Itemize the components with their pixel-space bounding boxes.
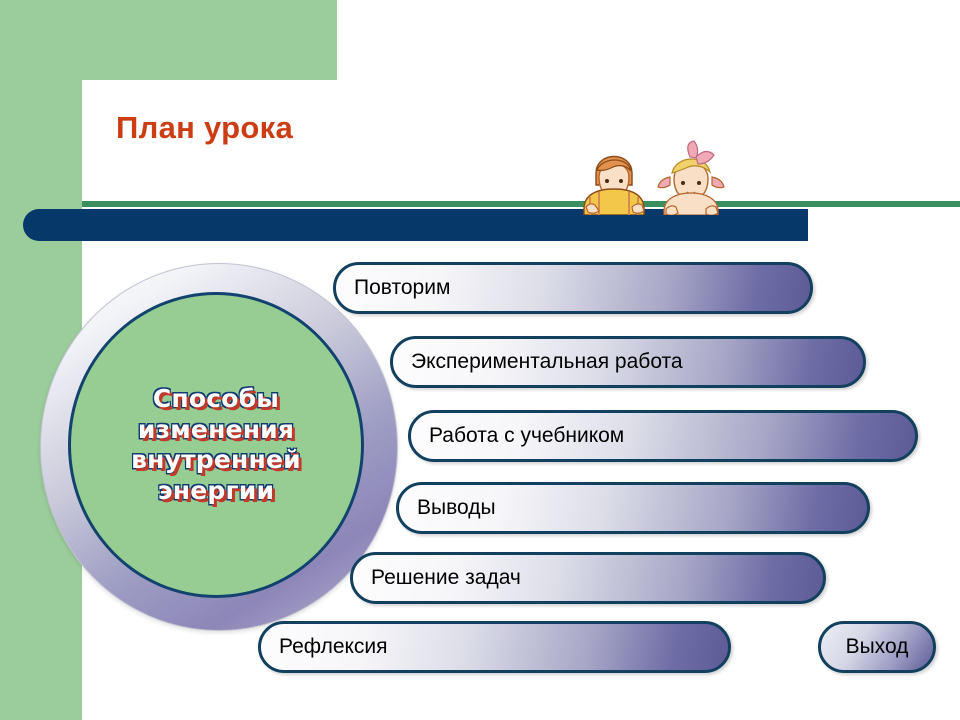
page-title: План урока	[116, 110, 293, 146]
agenda-item-label: Рефлексия	[279, 635, 388, 659]
central-concept-circle: Способы изменения внутренней энергии	[40, 263, 398, 631]
agenda-item-label: Работа с учебником	[429, 424, 624, 448]
agenda-item-label: Повторим	[354, 276, 450, 300]
agenda-item-refleksiya[interactable]: Рефлексия	[258, 621, 731, 673]
agenda-item-eksperimentalnaya-rabota[interactable]: Экспериментальная работа	[390, 336, 866, 388]
circle-label-line-2: изменения	[138, 415, 294, 446]
agenda-item-label: Решение задач	[371, 566, 521, 590]
agenda-item-label: Экспериментальная работа	[411, 350, 683, 374]
exit-button-label: Выход	[846, 635, 909, 659]
exit-button[interactable]: Выход	[818, 621, 936, 673]
circle-label-line-4: энергии	[158, 476, 274, 507]
agenda-item-label: Выводы	[417, 496, 496, 520]
agenda-item-vyvody[interactable]: Выводы	[396, 482, 870, 534]
green-divider-rule	[82, 201, 960, 207]
two-children-peeking-icon	[566, 137, 744, 215]
circle-label-line-1: Способы	[153, 384, 279, 415]
agenda-item-povtorim[interactable]: Повторим	[333, 262, 813, 314]
circle-label: Способы изменения внутренней энергии	[68, 292, 364, 598]
circle-label-line-3: внутренней	[131, 445, 301, 476]
slide-canvas: План урока	[0, 0, 960, 720]
agenda-item-reshenie-zadach[interactable]: Решение задач	[350, 552, 826, 604]
agenda-item-rabota-s-uchebnikom[interactable]: Работа с учебником	[408, 410, 918, 462]
